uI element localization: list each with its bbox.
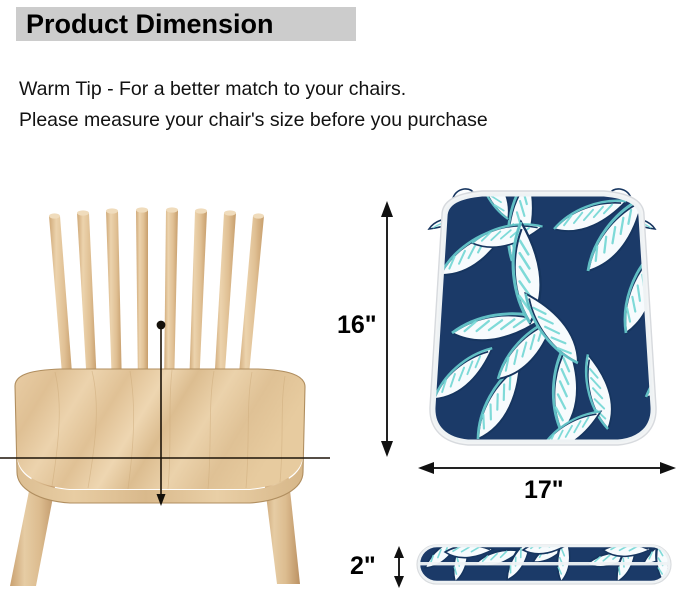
chair-spindles	[49, 207, 264, 389]
page-title: Product Dimension	[26, 8, 356, 40]
product-dimension-infographic: Product Dimension Warm Tip - For a bette…	[0, 0, 679, 593]
chair-seat	[15, 369, 305, 503]
height-dimension-arrow	[376, 201, 398, 457]
cushion-top-view	[412, 183, 674, 453]
height-dimension-label: 16"	[337, 311, 377, 340]
warm-tip-line-2: Please measure your chair's size before …	[19, 109, 488, 132]
warm-tip-line-1: Warm Tip - For a better match to your ch…	[19, 78, 406, 101]
thickness-dimension-arrow	[389, 546, 409, 588]
cushion-side-view	[411, 538, 676, 590]
chair-illustration	[0, 186, 350, 593]
width-dimension-label: 17"	[524, 476, 564, 505]
thickness-dimension-label: 2"	[350, 552, 376, 581]
cushion-body	[412, 183, 674, 453]
